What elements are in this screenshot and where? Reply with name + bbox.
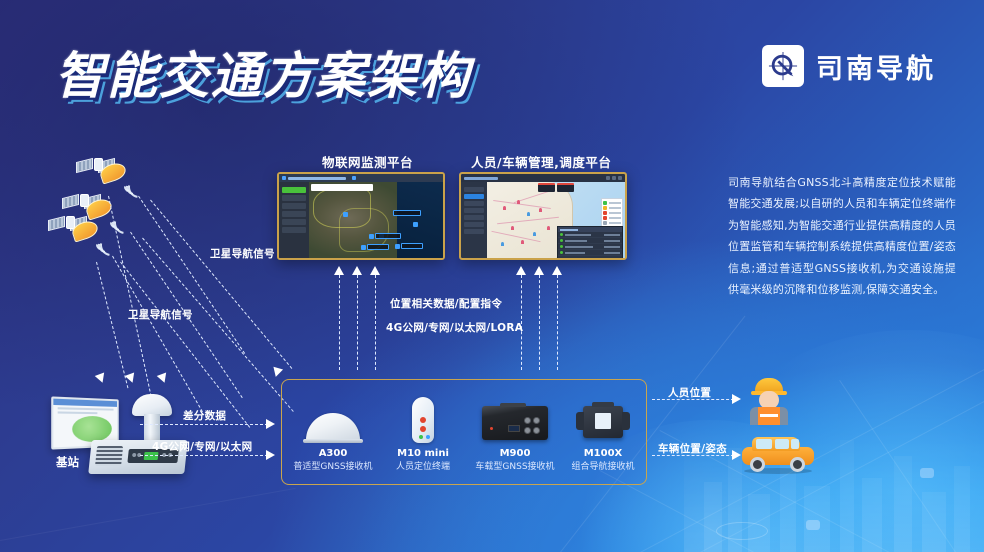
base-station-label: 基站	[56, 454, 79, 470]
close-icon[interactable]	[618, 176, 622, 180]
screen-sidebar[interactable]	[279, 182, 309, 260]
dome-base	[303, 439, 363, 443]
receiver-vent	[95, 446, 123, 466]
sidebar-item[interactable]	[464, 229, 484, 234]
sidebar-item[interactable]	[282, 219, 306, 225]
map-pin[interactable]	[527, 212, 530, 216]
map-pin[interactable]	[413, 222, 418, 227]
map-search-input[interactable]	[311, 184, 373, 191]
device-name: M900	[472, 448, 558, 459]
screen-sidebar[interactable]	[461, 182, 487, 260]
uplink-line	[375, 275, 376, 370]
map-pin[interactable]	[395, 244, 400, 249]
worker-icon	[746, 378, 792, 424]
screen-body	[461, 182, 625, 260]
monitor-row	[58, 407, 114, 410]
car-wheel-rear	[790, 457, 805, 472]
receiver-knob	[132, 453, 136, 457]
differential-data-label: 差分数据	[183, 408, 226, 423]
brand-logo: 司南导航	[762, 45, 936, 87]
personnel-position-label: 人员位置	[668, 385, 711, 400]
solar-panel-left	[62, 194, 79, 209]
map-pin[interactable]	[547, 226, 550, 230]
differential-network-arrow	[266, 450, 275, 460]
differential-network-label: 4G公网/专网/以太网	[152, 439, 252, 454]
maximize-icon[interactable]	[612, 176, 616, 180]
antenna-pole	[144, 414, 160, 442]
device-a300-image	[290, 394, 376, 446]
uplink-line	[339, 275, 340, 370]
device-fin	[592, 402, 614, 407]
sidebar-item-active[interactable]	[464, 194, 484, 199]
map-tooltip	[375, 233, 401, 239]
differential-data-line	[140, 424, 268, 425]
antenna-dome-icon	[132, 394, 172, 416]
device-m900[interactable]: M900 车载型GNSS接收机	[472, 394, 558, 472]
map-tooltip	[367, 244, 389, 250]
monitor-header	[53, 399, 117, 407]
solar-panel-left	[76, 158, 93, 173]
screen-app-title	[288, 177, 346, 180]
uplink-data-label: 位置相关数据/配置指令	[390, 296, 502, 311]
device-m10-mini[interactable]: M10 mini 人员定位终端	[380, 394, 466, 472]
uplink-arrow	[370, 266, 380, 275]
vehicle-position-arrow	[732, 450, 741, 460]
antenna-port	[533, 417, 540, 424]
differential-network-line	[140, 455, 268, 456]
satellite-signal-label-1: 卫星导航信号	[210, 246, 275, 261]
device-name: M10 mini	[380, 448, 466, 459]
car-window	[791, 439, 799, 449]
device-desc: 车载型GNSS接收机	[472, 459, 558, 472]
page-header: 智能交通方案架构 司南导航	[0, 0, 984, 125]
uplink-line	[539, 275, 540, 370]
antenna-port	[524, 427, 531, 434]
device-group-box: A300 普适型GNSS接收机 M10 mini 人员定位终端	[281, 379, 647, 485]
uplink-arrow	[352, 266, 362, 275]
sidebar-item[interactable]	[464, 215, 484, 220]
map-pin[interactable]	[503, 206, 506, 210]
handheld-tracker-icon	[412, 397, 434, 443]
map-tooltip	[401, 243, 423, 249]
fleet-platform-label: 人员/车辆管理,调度平台	[471, 152, 611, 171]
monitor-row	[58, 411, 98, 414]
legend-row	[603, 206, 621, 210]
device-desc: 普适型GNSS接收机	[290, 459, 376, 472]
compass-logo-glyph	[768, 51, 798, 81]
screen-titlebar	[279, 174, 443, 182]
legend-row	[603, 211, 621, 215]
legend-row	[603, 221, 621, 225]
power-led	[490, 427, 493, 430]
sidebar-item[interactable]	[464, 201, 484, 206]
road-map[interactable]	[487, 182, 625, 260]
device-desc: 人员定位终端	[380, 459, 466, 472]
map-pin[interactable]	[361, 245, 366, 250]
legend-row	[603, 201, 621, 205]
car-wheel-front	[750, 457, 765, 472]
vest-stripe	[760, 414, 778, 417]
device-button-red	[420, 417, 426, 423]
map-pin[interactable]	[521, 240, 524, 244]
differential-data-arrow	[266, 419, 275, 429]
sidebar-item[interactable]	[282, 195, 306, 201]
antenna-port	[533, 427, 540, 434]
car-icon	[742, 434, 814, 472]
page-title: 智能交通方案架构	[55, 36, 471, 108]
map-pin[interactable]	[501, 242, 504, 246]
window-controls[interactable]	[606, 176, 622, 180]
device-button-red2	[420, 426, 426, 432]
dome-antenna-icon	[306, 413, 360, 440]
sidebar-item[interactable]	[464, 208, 484, 213]
vehicle-list-panel[interactable]	[557, 226, 623, 260]
map-pin[interactable]	[533, 232, 536, 236]
solar-panel-left	[48, 216, 65, 231]
window-icon	[352, 176, 356, 180]
uplink-line	[557, 275, 558, 370]
device-handle	[500, 403, 526, 407]
sidebar-item[interactable]	[464, 222, 484, 227]
map-legend	[601, 198, 623, 228]
device-led-blue	[426, 435, 430, 439]
sidebar-item[interactable]	[282, 203, 306, 209]
sidebar-item[interactable]	[282, 211, 306, 217]
stat-counter	[538, 183, 555, 192]
device-m900-image	[472, 394, 558, 446]
uplink-arrow	[534, 266, 544, 275]
map-pin[interactable]	[511, 226, 514, 230]
antenna-port	[524, 417, 531, 424]
compass-logo-icon	[762, 45, 804, 87]
device-display	[508, 425, 520, 432]
app-icon	[282, 176, 286, 180]
personnel-position-arrow	[732, 394, 741, 404]
mount-bracket-right	[622, 412, 630, 430]
legend-row	[603, 216, 621, 220]
iot-monitoring-screen[interactable]	[277, 172, 445, 260]
sidebar-item[interactable]	[464, 187, 484, 192]
minimize-icon[interactable]	[606, 176, 610, 180]
uplink-arrow	[334, 266, 344, 275]
satellite-signal-label-2: 卫星导航信号	[128, 307, 193, 322]
map-tooltip	[393, 210, 421, 216]
device-name: M100X	[560, 448, 646, 459]
stat-counter	[557, 183, 574, 192]
device-desc: 组合导航接收机	[560, 459, 646, 472]
device-label-plate	[595, 413, 611, 429]
iot-platform-label: 物联网监测平台	[322, 152, 413, 171]
screen-titlebar	[461, 174, 625, 182]
table-row[interactable]	[558, 250, 622, 256]
sidebar-item[interactable]	[282, 227, 306, 233]
stat-counters	[538, 183, 574, 192]
mount-bracket-left	[576, 412, 584, 430]
uplink-arrow	[516, 266, 526, 275]
uplink-line	[357, 275, 358, 370]
device-a300[interactable]: A300 普适型GNSS接收机	[290, 394, 376, 472]
device-m100x-image	[560, 394, 646, 446]
brand-name: 司南导航	[816, 47, 936, 86]
screen-body	[279, 182, 443, 260]
uplink-network-label: 4G公网/专网/以太网/LORA	[386, 320, 523, 335]
car-window	[775, 439, 789, 449]
monitor-chart	[72, 416, 112, 443]
ins-receiver-icon	[583, 406, 623, 438]
map-pin[interactable]	[369, 234, 374, 239]
vehicle-position-label: 车辆位置/姿态	[658, 441, 727, 456]
map-pin[interactable]	[517, 200, 520, 204]
map-pin[interactable]	[343, 212, 348, 217]
satellite-map[interactable]	[309, 182, 443, 260]
uplink-arrow	[552, 266, 562, 275]
device-m100x[interactable]: M100X 组合导航接收机	[560, 394, 646, 472]
description-paragraph: 司南导航结合GNSS北斗高精度定位技术赋能智能交通发展;以自研的人员和车辆定位终…	[728, 172, 956, 301]
device-m10-image	[380, 394, 466, 446]
car-window	[756, 439, 772, 449]
device-name: A300	[290, 448, 376, 459]
map-pin[interactable]	[539, 208, 542, 212]
screen-app-title	[464, 177, 498, 180]
device-led-green	[419, 435, 423, 439]
vehicle-receiver-icon	[482, 406, 548, 440]
sidebar-item-active[interactable]	[282, 187, 306, 193]
fleet-dispatch-screen[interactable]	[459, 172, 627, 260]
